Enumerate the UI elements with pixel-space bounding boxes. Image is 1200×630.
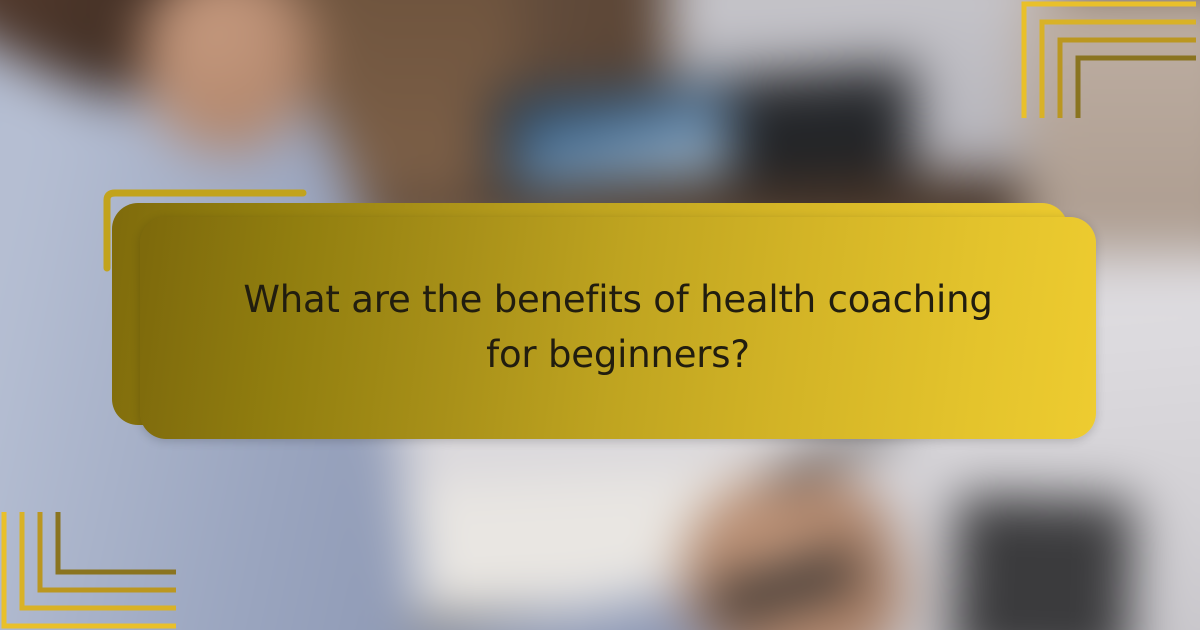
question-text: What are the benefits of health coaching… (233, 273, 1003, 383)
background-laptop-screen (512, 86, 730, 188)
question-card: What are the benefits of health coaching… (100, 186, 1110, 448)
question-text-container: What are the benefits of health coaching… (140, 217, 1096, 439)
question-card-image: What are the benefits of health coaching… (0, 0, 1200, 630)
background-tablet (951, 494, 1134, 630)
